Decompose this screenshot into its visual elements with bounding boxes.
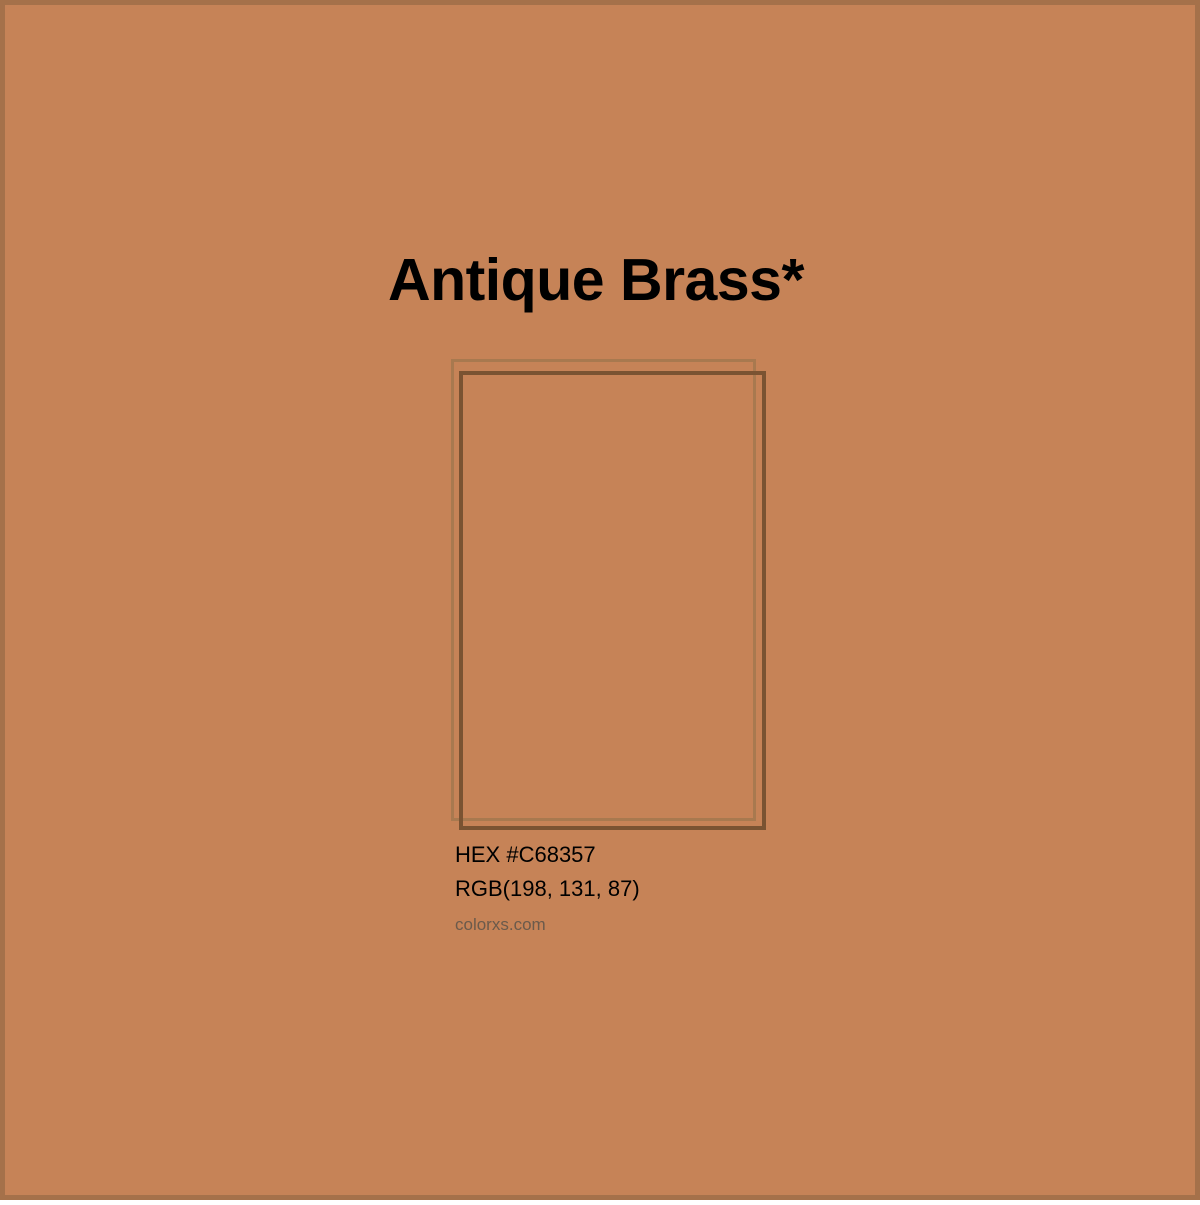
- swatch-outline-back: [451, 359, 756, 821]
- hex-value-label: HEX #C68357: [455, 838, 975, 872]
- color-values: HEX #C68357 RGB(198, 131, 87) colorxs.co…: [455, 838, 975, 936]
- color-swatch-preview: [5, 5, 1200, 1205]
- swatch-outline-front: [459, 371, 766, 830]
- page-title: Antique Brass*: [388, 248, 804, 312]
- site-credit-label: colorxs.com: [455, 906, 975, 936]
- color-swatch-page: Antique Brass* HEX #C68357 RGB(198, 131,…: [0, 0, 1200, 1200]
- rgb-value-label: RGB(198, 131, 87): [455, 872, 975, 906]
